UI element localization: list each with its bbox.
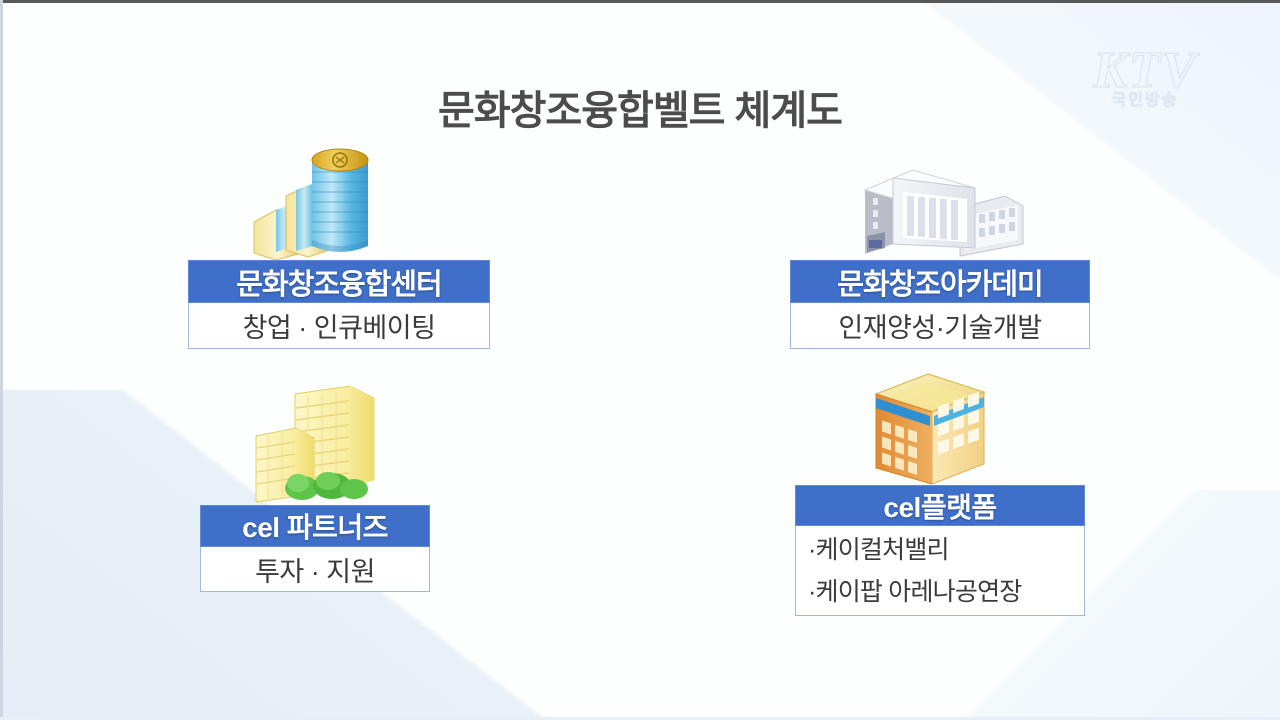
card-header-2: 문화창조아카데미 — [790, 260, 1090, 303]
frame-top-edge — [0, 0, 1280, 3]
card-body-line: ·케이팝 아레나공연장 — [808, 571, 1021, 613]
card-body-line: 인재양성·기술개발 — [838, 306, 1041, 345]
card-cel-partners[interactable]: cel 파트너즈 투자 · 지원 — [200, 505, 430, 592]
card-body-3: 투자 · 지원 — [200, 547, 430, 592]
card-body-line: 투자 · 지원 — [255, 550, 375, 589]
card-munhwa-changjo-academy[interactable]: 문화창조아카데미 인재양성·기술개발 — [790, 260, 1090, 349]
coin-stack-icon — [250, 140, 390, 265]
card-body-4: ·케이컬처밸리 ·케이팝 아레나공연장 — [795, 526, 1085, 616]
academy-building-icon — [855, 168, 1030, 263]
diagram-canvas: KTV 국민방송 문화창조융합벨트 체계도 — [0, 0, 1280, 720]
card-header-4: cel플랫폼 — [795, 485, 1085, 526]
card-header-1: 문화창조융합센터 — [188, 260, 490, 303]
card-header-3: cel 파트너즈 — [200, 505, 430, 547]
card-munhwa-changjo-yunghap-center[interactable]: 문화창조융합센터 창업 · 인큐베이팅 — [188, 260, 490, 349]
card-body-1: 창업 · 인큐베이팅 — [188, 303, 490, 349]
office-buildings-icon — [250, 382, 390, 508]
card-body-line: ·케이컬처밸리 — [808, 529, 949, 571]
card-cel-platform[interactable]: cel플랫폼 ·케이컬처밸리 ·케이팝 아레나공연장 — [795, 485, 1085, 616]
tower-building-icon — [868, 372, 993, 488]
page-title: 문화창조융합벨트 체계도 — [0, 78, 1280, 136]
card-body-2: 인재양성·기술개발 — [790, 303, 1090, 349]
card-body-line: 창업 · 인큐베이팅 — [243, 306, 436, 345]
